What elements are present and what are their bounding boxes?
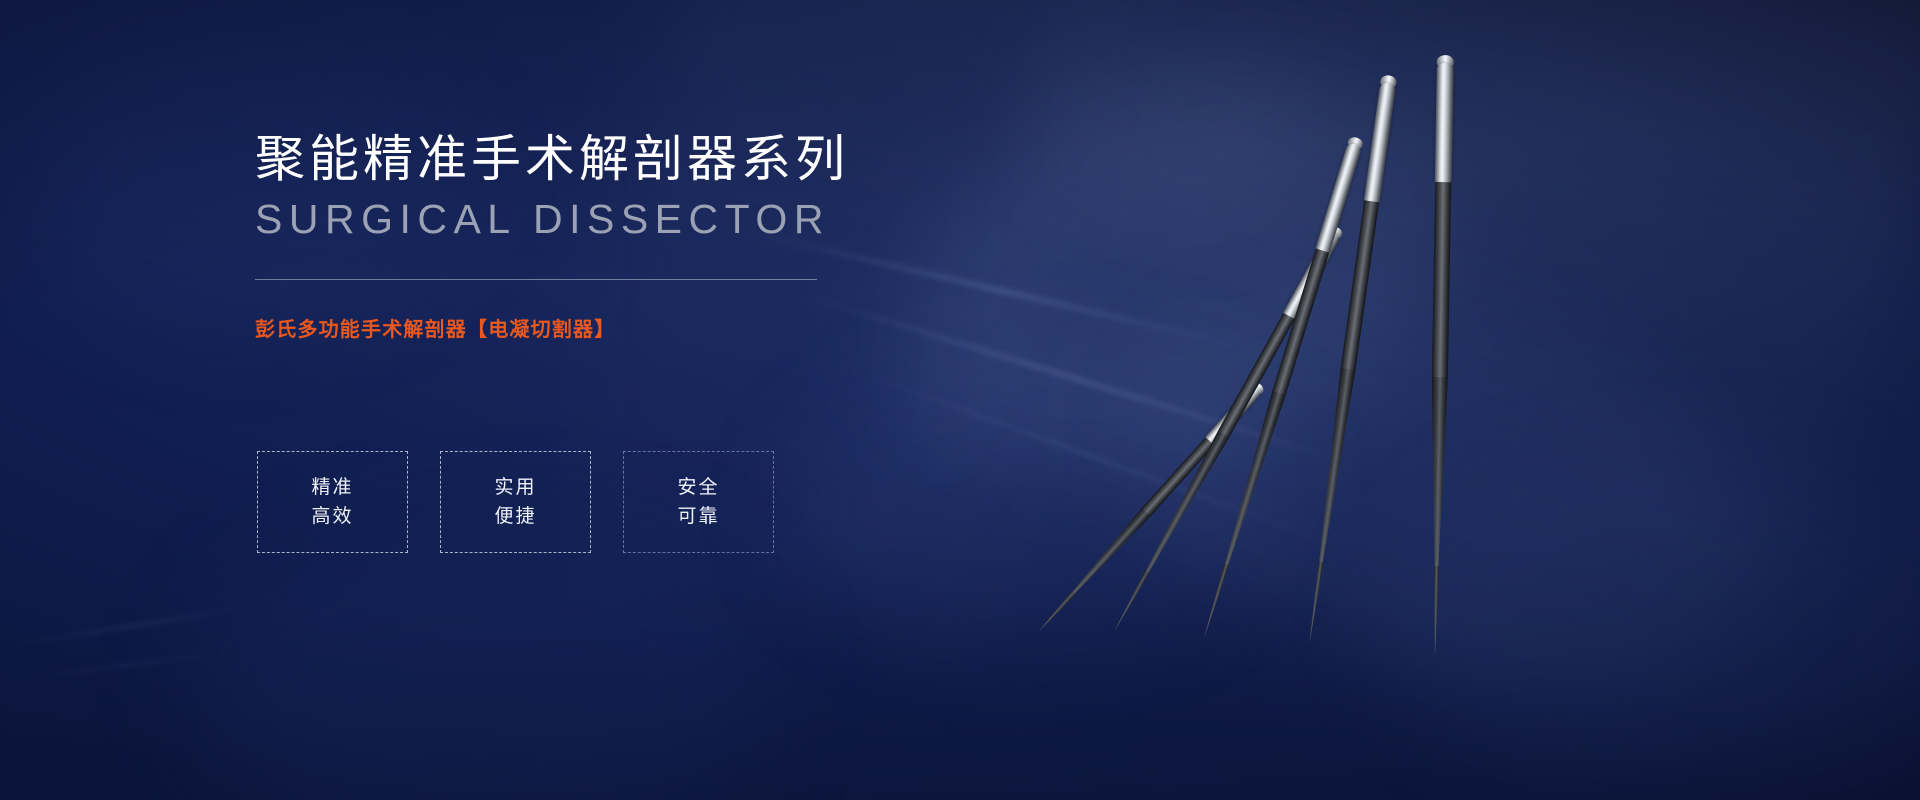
feature-box-practical[interactable]: 实用 便捷 xyxy=(440,451,591,553)
instrument-tip xyxy=(1113,570,1150,631)
page-title: 聚能精准手术解剖器系列 xyxy=(255,130,875,188)
feature-line-1: 精准 xyxy=(311,478,353,497)
instrument-shaft xyxy=(1341,200,1380,370)
hero-banner: 聚能精准手术解剖器系列 SURGICAL DISSECTOR 彭氏多功能手术解剖… xyxy=(0,0,1920,800)
feature-box-precision[interactable]: 精准 高效 xyxy=(257,451,408,553)
dissector-instrument xyxy=(1395,54,1485,655)
feature-line-2: 高效 xyxy=(311,507,353,526)
instrument-handle xyxy=(1435,63,1454,183)
feature-line-2: 便捷 xyxy=(494,507,536,526)
product-name-highlight: 彭氏多功能手术解剖器【电凝切割器】 xyxy=(255,313,875,342)
product-image-surgical-dissector-fan xyxy=(1130,0,1920,800)
instrument-tip xyxy=(1038,591,1075,632)
instrument-shaft xyxy=(1432,182,1451,378)
feature-box-safety[interactable]: 安全 可靠 xyxy=(623,451,774,553)
divider xyxy=(255,279,817,280)
instrument-taper xyxy=(1429,377,1448,567)
feature-line-1: 实用 xyxy=(494,478,536,497)
instrument-tip xyxy=(1433,566,1440,654)
instrument-tip xyxy=(1307,561,1323,641)
banner-text-block: 聚能精准手术解剖器系列 SURGICAL DISSECTOR 彭氏多功能手术解剖… xyxy=(255,130,875,342)
feature-line-1: 安全 xyxy=(677,478,719,497)
instrument-tip xyxy=(1202,564,1229,638)
feature-box-group: 精准 高效 实用 便捷 安全 可靠 xyxy=(257,451,774,553)
page-subtitle-en: SURGICAL DISSECTOR xyxy=(255,196,875,243)
instrument-taper xyxy=(1313,368,1355,564)
instrument-taper xyxy=(1220,391,1286,567)
feature-line-2: 可靠 xyxy=(677,507,719,526)
instrument-handle xyxy=(1364,82,1397,203)
